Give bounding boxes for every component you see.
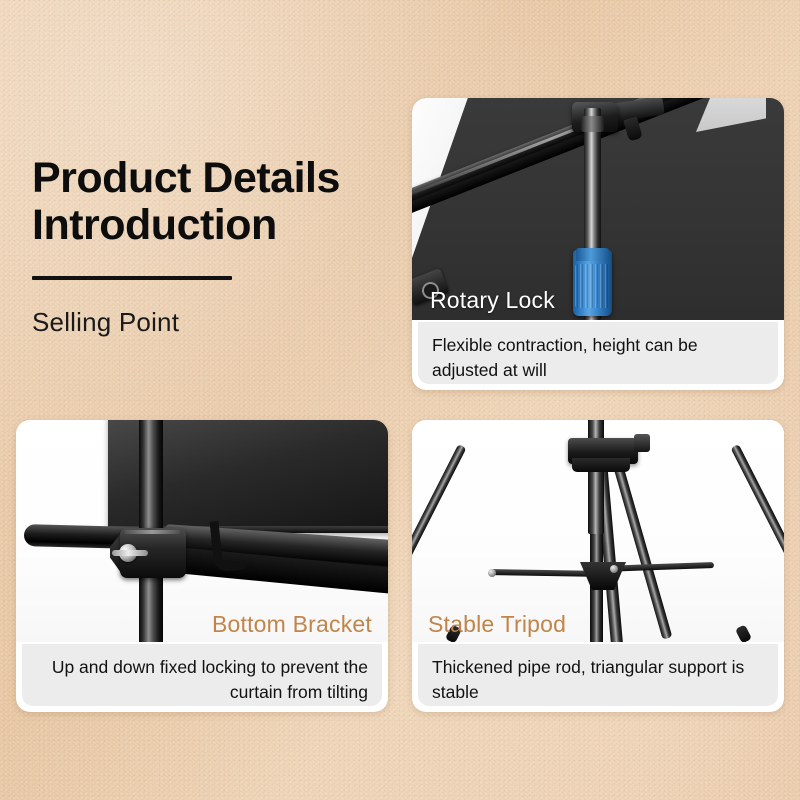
product-photo-stable-tripod: Stable Tripod: [412, 420, 784, 642]
feature-card-bottom-bracket[interactable]: Bottom Bracket Up and down fixed locking…: [16, 420, 388, 712]
headline-block: Product Details Introduction Selling Poi…: [32, 155, 402, 338]
knob-ribbing-icon: [575, 264, 610, 308]
clamp-highlight-icon: [124, 530, 180, 534]
pole-top-collar-icon: [581, 116, 604, 132]
product-photo-bottom-bracket: Bottom Bracket: [16, 420, 388, 642]
feature-card-stable-tripod[interactable]: Stable Tripod Thickened pipe rod, triang…: [412, 420, 784, 712]
tripod-foot-right-icon: [735, 624, 752, 642]
subtitle-selling-point: Selling Point: [32, 307, 402, 338]
feature-card-rotary-lock[interactable]: Rotary Lock Flexible contraction, height…: [412, 98, 784, 390]
wing-nut-icon: [112, 550, 148, 556]
card-title-bottom-bracket: Bottom Bracket: [212, 611, 372, 638]
brace-joint-left-icon: [488, 569, 496, 577]
bar-hook-icon: [209, 519, 245, 573]
brace-spider-icon: [580, 562, 626, 590]
card-caption-stable-tripod: Thickened pipe rod, triangular support i…: [418, 644, 778, 706]
product-photo-rotary-lock: Rotary Lock: [412, 98, 784, 320]
tripod-lock-knob-icon: [634, 434, 650, 452]
knob-collar-icon: [576, 248, 609, 261]
brace-joint-right-icon: [610, 565, 618, 573]
page-title-line2: Introduction: [32, 202, 402, 249]
photo-backdrop-top: [696, 98, 766, 132]
card-title-stable-tripod: Stable Tripod: [428, 611, 566, 638]
card-caption-bottom-bracket: Up and down fixed locking to prevent the…: [22, 644, 382, 706]
tripod-leg-left-icon: [412, 444, 467, 623]
card-title-rotary-lock: Rotary Lock: [430, 287, 555, 314]
tripod-hub-lower-icon: [572, 458, 630, 472]
title-divider: [32, 276, 232, 280]
card-caption-rotary-lock: Flexible contraction, height can be adju…: [418, 322, 778, 384]
page-title-line1: Product Details: [32, 155, 402, 202]
tripod-leg-right-icon: [730, 444, 784, 623]
